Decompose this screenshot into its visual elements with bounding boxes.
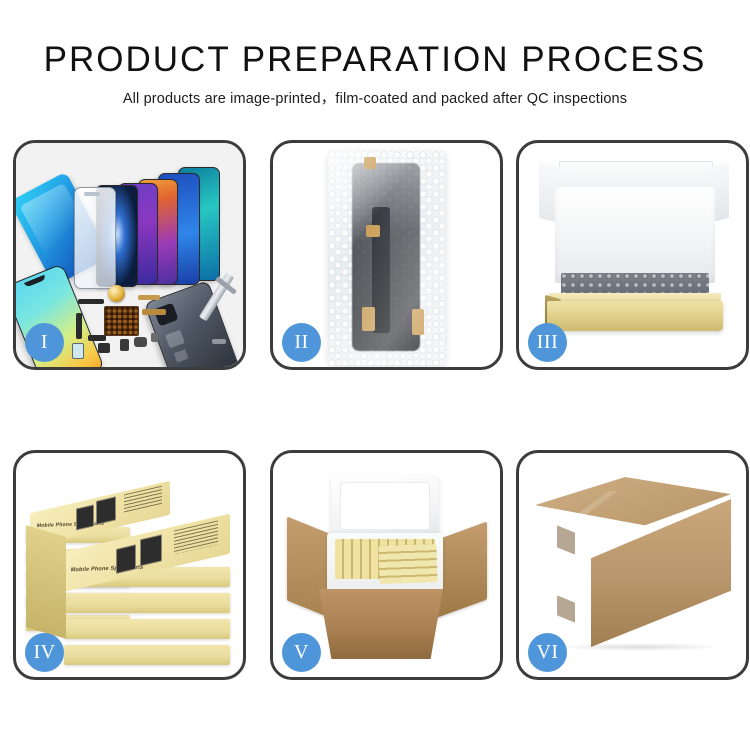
box-tray-front-icon [547, 301, 723, 331]
screw-set-icon [212, 339, 226, 344]
box-spec-lines [124, 486, 162, 515]
tempered-glass-icon [74, 187, 116, 289]
box-art-screen [76, 504, 94, 530]
process-step-grid: I II [13, 140, 740, 680]
stacked-box [64, 593, 230, 613]
vibration-motor-icon [108, 285, 125, 302]
yellow-boxes-row-icon [378, 544, 437, 584]
gold-connector-icon [142, 309, 166, 315]
carton-shadow [555, 643, 723, 651]
sim-tray-icon [72, 343, 84, 359]
box-spec-lines [174, 520, 218, 554]
product-preparation-page: PRODUCT PREPARATION PROCESS All products… [0, 0, 750, 750]
page-subtitle: All products are image-printed，film-coat… [0, 89, 750, 109]
foam-cooler-lid-icon [331, 475, 439, 539]
step-badge-4: IV [25, 633, 64, 672]
stacked-box [64, 619, 230, 639]
page-header: PRODUCT PREPARATION PROCESS All products… [0, 40, 750, 109]
page-title: PRODUCT PREPARATION PROCESS [0, 40, 750, 80]
stack-side-shadow [26, 525, 66, 638]
process-step-panel-4[interactable]: Mobile Phone Spare Parts Mobile Phone Sp… [13, 450, 246, 680]
phone-screen-stack [92, 169, 228, 289]
step-badge-2: II [282, 323, 321, 362]
flex-cable-icon [76, 313, 82, 339]
stacked-box [64, 645, 230, 665]
box-art-screen [116, 544, 136, 574]
box-label-text: Mobile Phone Spare Parts [36, 521, 105, 530]
small-part-icon [151, 333, 158, 342]
step-badge-3: III [528, 323, 567, 362]
flex-cable-icon [78, 299, 104, 304]
box-art-screen [140, 534, 162, 566]
speaker-module-icon [134, 337, 147, 347]
phone-back-housing-icon [144, 280, 240, 367]
chip-board-icon [104, 306, 139, 336]
step-badge-5: V [282, 633, 321, 672]
carton-with-cooler-icon [287, 473, 487, 663]
gold-connector-icon [138, 295, 160, 300]
flex-cable-icon [88, 335, 106, 341]
white-foam-sheet-icon [555, 187, 715, 283]
process-step-panel-3[interactable]: III [516, 140, 749, 370]
open-inner-box-icon [541, 161, 727, 343]
process-step-panel-6[interactable]: VI [516, 450, 749, 680]
camera-module-icon [120, 339, 129, 351]
sealed-carton-icon [535, 477, 731, 655]
plastic-gloss-overlay [328, 151, 446, 365]
step-badge-1: I [25, 323, 64, 362]
carton-right-face [591, 499, 731, 647]
battery-connector-icon [98, 343, 110, 353]
carton-front-panel-icon [319, 589, 443, 659]
process-step-panel-1[interactable]: I [13, 140, 246, 370]
process-step-panel-2[interactable]: II [270, 140, 503, 370]
bubble-wrap-bag-icon [328, 151, 446, 365]
step-badge-6: VI [528, 633, 567, 672]
process-step-panel-5[interactable]: V [270, 450, 503, 680]
box-art-screen [96, 496, 116, 525]
